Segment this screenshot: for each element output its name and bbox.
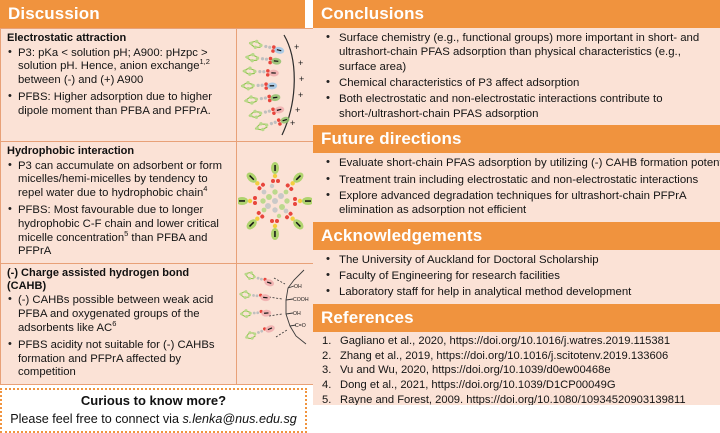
bullet-text: PFBS: Higher adsorption due to higher di… <box>18 91 212 117</box>
acknowledgements-list: The University of Auckland for Doctoral … <box>319 253 714 300</box>
references-header: References <box>313 304 720 332</box>
contact-box: Curious to know more? Please feel free t… <box>0 388 307 433</box>
conclusions-header: Conclusions <box>313 0 720 28</box>
list-item: Gagliano et al., 2020, https://doi.org/1… <box>319 334 714 349</box>
discussion-column: Discussion Electrostatic attraction P3: … <box>0 0 305 405</box>
references-list: Gagliano et al., 2020, https://doi.org/1… <box>319 334 714 405</box>
subsection-title: (-) Charge assisted hydrogen bond (CAHB) <box>5 266 232 294</box>
list-item: Both electrostatic and non-electrostatic… <box>339 92 714 121</box>
functional-group-label: OH <box>293 311 301 317</box>
functional-group-label: OH <box>294 284 302 290</box>
future-directions-list: Evaluate short-chain PFAS adsorption by … <box>319 156 714 217</box>
list-item: P3: pKa < solution pH; A900: pHzpc > sol… <box>18 47 232 88</box>
conclusions-body: Surface chemistry (e.g., functional grou… <box>313 28 720 125</box>
electrostatic-attraction-diagram: + + + + + + <box>238 29 312 141</box>
list-item: Rayne and Forest, 2009. https://doi.org/… <box>319 393 714 405</box>
list-item: Surface chemistry (e.g., functional grou… <box>339 31 714 74</box>
cahb-figure-cell: OH COOH OH C=O <box>237 264 314 385</box>
list-item: Faculty of Engineering for research faci… <box>339 269 714 283</box>
list-item: Vu and Wu, 2020, https://doi.org/10.1039… <box>319 363 714 378</box>
subsection-title: Hydrophobic interaction <box>5 144 232 160</box>
cahb-hydrogen-bond-diagram: OH COOH OH C=O <box>238 264 312 360</box>
list-item: PFBS acidity not suitable for (-) CAHBs … <box>18 339 232 380</box>
list-item: PFBS: Most favourable due to longer hydr… <box>18 204 232 259</box>
electrostatic-figure-cell: + + + + + + <box>237 29 314 142</box>
bullet-text-tail: between (-) and (+) A900 <box>18 74 143 86</box>
electrostatic-bullet-list: P3: pKa < solution pH; A900: pHzpc > sol… <box>5 47 232 119</box>
contact-lead: Please feel free to connect via <box>10 412 182 426</box>
list-item: Chemical characteristics of P3 affect ad… <box>339 76 714 90</box>
discussion-table: Electrostatic attraction P3: pKa < solut… <box>0 28 314 385</box>
svg-text:+: + <box>294 42 299 52</box>
hydrophobic-interaction-cell: Hydrophobic interaction P3 can accumulat… <box>1 142 237 264</box>
list-item: Treatment train including electrostatic … <box>339 173 714 187</box>
list-item: Evaluate short-chain PFAS adsorption by … <box>339 156 714 170</box>
micelle-figure-cell <box>237 142 314 264</box>
list-item: P3 can accumulate on adsorbent or form m… <box>18 160 232 201</box>
future-directions-header: Future directions <box>313 125 720 153</box>
acknowledgements-header: Acknowledgements <box>313 222 720 250</box>
cahb-bullet-list: (-) CAHBs possible between weak acid PFB… <box>5 294 232 380</box>
results-column: Conclusions Surface chemistry (e.g., fun… <box>313 0 720 405</box>
subsection-title: Electrostatic attraction <box>5 31 232 47</box>
discussion-header: Discussion <box>0 0 305 28</box>
svg-text:+: + <box>290 118 295 128</box>
svg-text:+: + <box>299 74 304 84</box>
list-item: Explore advanced degradation techniques … <box>339 189 714 218</box>
references-body: Gagliano et al., 2020, https://doi.org/1… <box>313 332 720 405</box>
reference-superscript: 4 <box>203 184 207 193</box>
table-row: (-) Charge assisted hydrogen bond (CAHB)… <box>1 264 314 385</box>
contact-question: Curious to know more? <box>6 393 301 410</box>
list-item: (-) CAHBs possible between weak acid PFB… <box>18 294 232 335</box>
list-item: The University of Auckland for Doctoral … <box>339 253 714 267</box>
micelle-diagram <box>238 142 312 260</box>
list-item: Laboratory staff for help in analytical … <box>339 285 714 299</box>
table-row: Electrostatic attraction P3: pKa < solut… <box>1 29 314 142</box>
bullet-text: P3 can accumulate on adsorbent or form m… <box>18 160 222 200</box>
cahb-cell: (-) Charge assisted hydrogen bond (CAHB)… <box>1 264 237 385</box>
reference-superscript: 6 <box>112 319 116 328</box>
contact-email[interactable]: s.lenka@nus.edu.sg <box>182 412 296 426</box>
reference-superscript: 1,2 <box>200 58 210 67</box>
future-directions-body: Evaluate short-chain PFAS adsorption by … <box>313 153 720 221</box>
svg-text:+: + <box>298 90 303 100</box>
electrostatic-attraction-cell: Electrostatic attraction P3: pKa < solut… <box>1 29 237 142</box>
poster-root: Discussion Electrostatic attraction P3: … <box>0 0 720 405</box>
hydrophobic-bullet-list: P3 can accumulate on adsorbent or form m… <box>5 160 232 259</box>
bullet-text: P3: pKa < solution pH; A900: pHzpc > sol… <box>18 47 208 73</box>
svg-text:+: + <box>298 58 303 68</box>
acknowledgements-body: The University of Auckland for Doctoral … <box>313 250 720 304</box>
svg-text:+: + <box>295 105 300 115</box>
functional-group-label: COOH <box>293 297 309 303</box>
contact-line: Please feel free to connect via s.lenka@… <box>6 411 301 427</box>
list-item: PFBS: Higher adsorption due to higher di… <box>18 91 232 119</box>
list-item: Zhang et al., 2019, https://doi.org/10.1… <box>319 349 714 364</box>
functional-group-label: C=O <box>295 323 306 329</box>
table-row: Hydrophobic interaction P3 can accumulat… <box>1 142 314 264</box>
conclusions-list: Surface chemistry (e.g., functional grou… <box>319 31 714 121</box>
bullet-text: PFBS acidity not suitable for (-) CAHBs … <box>18 339 215 379</box>
list-item: Dong et al., 2021, https://doi.org/10.10… <box>319 378 714 393</box>
